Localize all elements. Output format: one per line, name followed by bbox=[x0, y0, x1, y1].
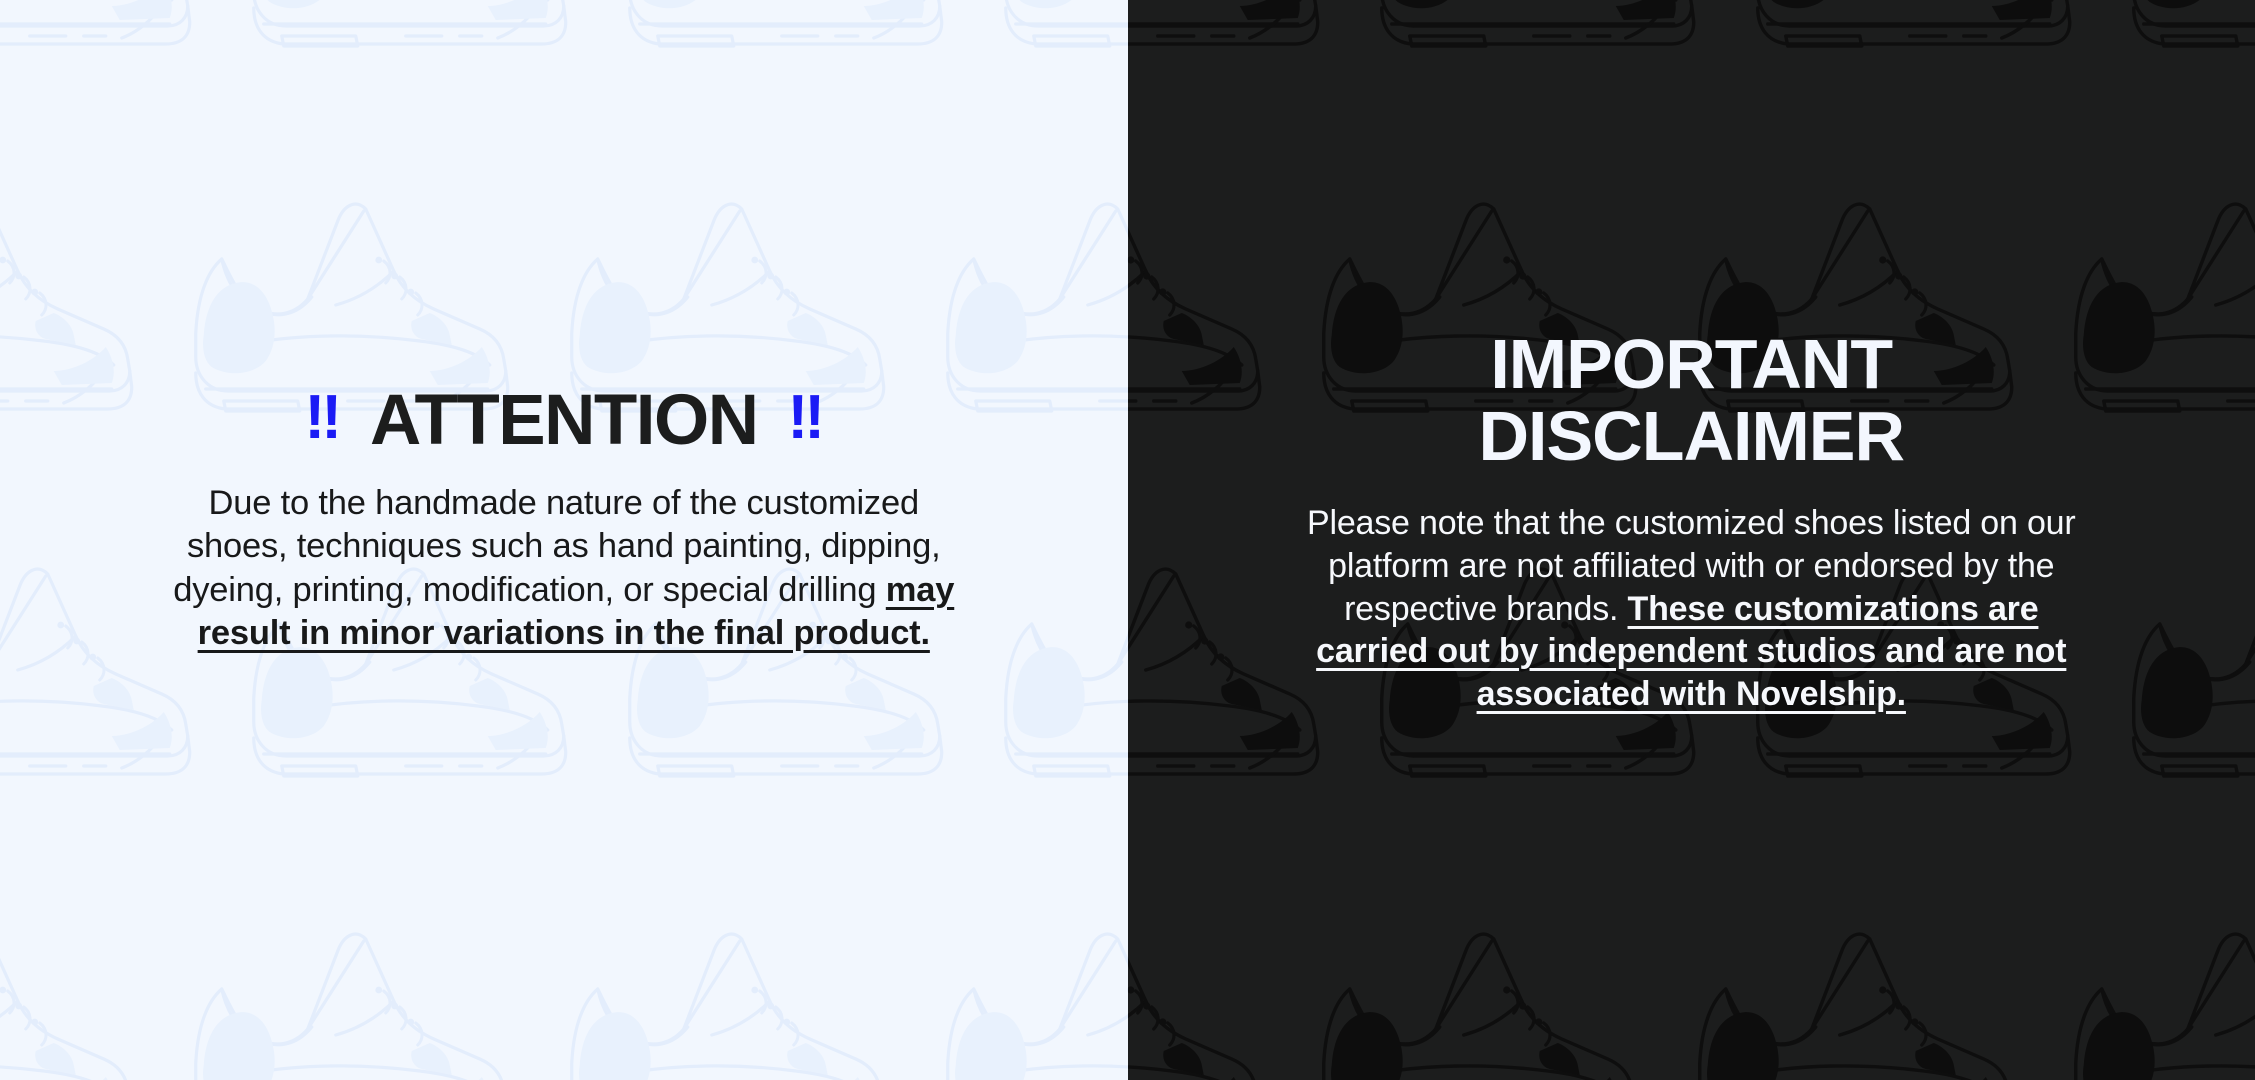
disclaimer-body: Please note that the customized shoes li… bbox=[1286, 502, 2096, 715]
attention-heading-text: ATTENTION bbox=[370, 385, 757, 456]
attention-panel: ‼ ATTENTION ‼ Due to the handmade nature… bbox=[0, 0, 1128, 1080]
disclaimer-panel: IMPORTANT DISCLAIMER Please note that th… bbox=[1128, 0, 2255, 1080]
disclaimer-content: IMPORTANT DISCLAIMER Please note that th… bbox=[1128, 328, 2255, 715]
attention-content: ‼ ATTENTION ‼ Due to the handmade nature… bbox=[0, 385, 1128, 655]
disclaimer-heading-line2: DISCLAIMER bbox=[1478, 400, 1904, 472]
disclaimer-heading: IMPORTANT DISCLAIMER bbox=[1478, 328, 1904, 472]
attention-heading: ‼ ATTENTION ‼ bbox=[305, 385, 823, 456]
attention-body-normal: Due to the handmade nature of the custom… bbox=[173, 484, 940, 609]
attention-body: Due to the handmade nature of the custom… bbox=[164, 482, 964, 655]
split-banner: ‼ ATTENTION ‼ Due to the handmade nature… bbox=[0, 0, 2255, 1080]
double-exclamation-right-icon: ‼ bbox=[787, 387, 822, 449]
disclaimer-heading-line1: IMPORTANT bbox=[1490, 325, 1892, 403]
double-exclamation-left-icon: ‼ bbox=[305, 387, 340, 449]
